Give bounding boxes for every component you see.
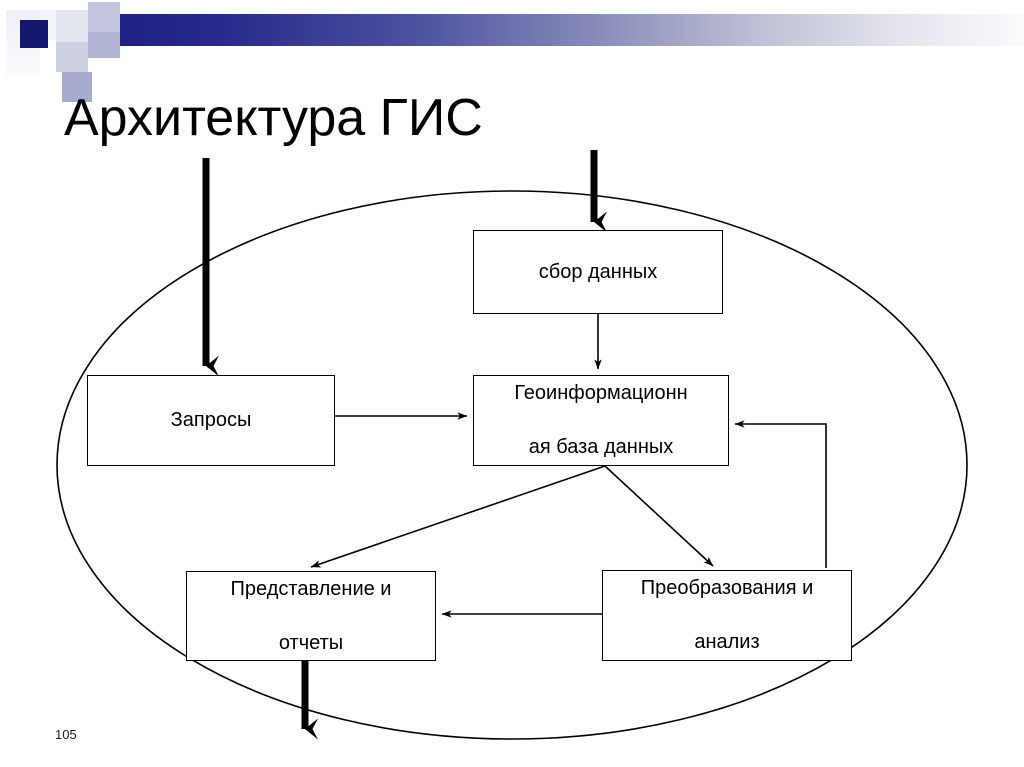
node-analysis-label: Преобразования и анализ [609,575,845,656]
node-presentation[interactable]: Представление и отчеты [186,571,436,661]
node-analysis-line-2: анализ [609,629,845,656]
node-database[interactable]: Геоинформационн ая база данных [473,375,729,466]
node-presentation-line-2: отчеты [193,630,429,657]
edge-analysis-to-database [735,424,826,568]
node-queries[interactable]: Запросы [87,375,335,466]
edge-database-to-analysis [605,466,713,566]
node-database-line-1: Геоинформационн [480,380,722,407]
node-presentation-line-1: Представление и [193,576,429,603]
node-database-line-2: ая база данных [480,434,722,461]
edge-database-to-presentation [311,466,605,567]
node-collect[interactable]: сбор данных [473,230,723,314]
node-analysis-line-1: Преобразования и [609,575,845,602]
slide-canvas: Архитектура ГИС [0,0,1024,767]
node-presentation-label: Представление и отчеты [193,576,429,657]
node-analysis[interactable]: Преобразования и анализ [602,570,852,661]
node-collect-label: сбор данных [480,259,716,286]
node-queries-label: Запросы [94,407,328,434]
node-database-label: Геоинформационн ая база данных [480,380,722,461]
page-number: 105 [55,727,77,742]
